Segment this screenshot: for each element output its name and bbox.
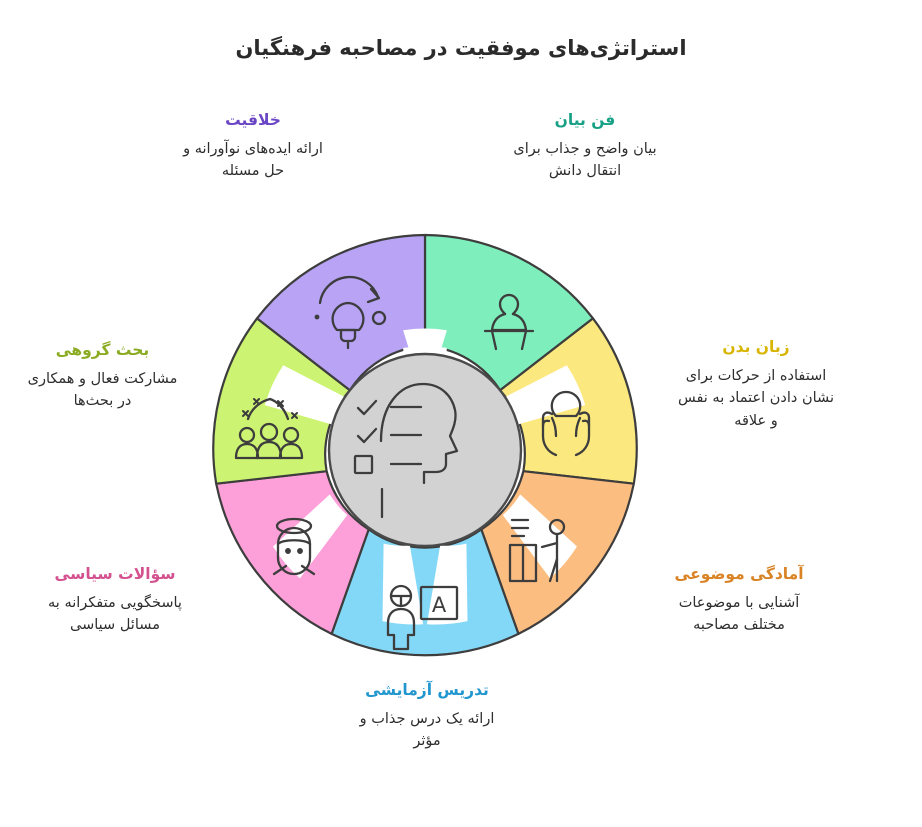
callout-group-desc: مشارکت فعال و همکاریدر بحث‌ها [5,368,200,413]
callout-expression-desc: بیان واضح و جذاب برایانتقال دانش [470,138,700,183]
callout-political-desc: پاسخگویی متفکرانه بهمسائل سیاسی [15,592,215,637]
callout-bodylang-title: زبان بدن [650,337,862,358]
callout-bodylang[interactable]: زبان بدن استفاده از حرکات براینشان دادن … [650,337,862,432]
callout-topic-desc: آشنایی با موضوعاتمختلف مصاحبه [634,592,844,637]
callout-topic-title: آمادگی موضوعی [634,564,844,585]
callout-group[interactable]: بحث گروهی مشارکت فعال و همکاریدر بحث‌ها [5,340,200,413]
callout-creativity[interactable]: خلاقیت ارائه ایده‌های نوآورانه وحل مسئله [138,110,368,183]
callout-topic[interactable]: آمادگی موضوعی آشنایی با موضوعاتمختلف مصا… [634,564,844,637]
callout-political-title: سؤالات سیاسی [15,564,215,585]
callout-demo-title: تدریس آزمایشی [312,680,542,701]
callout-political[interactable]: سؤالات سیاسی پاسخگویی متفکرانه بهمسائل س… [15,564,215,637]
hub-circle[interactable] [329,354,521,546]
callout-demo-desc: ارائه یک درس جذاب ومؤثر [312,708,542,753]
notch-gap-top [403,329,447,356]
callout-expression[interactable]: فن بیان بیان واضح و جذاب برایانتقال دانش [470,110,700,183]
page-title: استراتژی‌های موفقیت در مصاحبه فرهنگیان [0,36,922,60]
svg-text:A: A [432,593,447,617]
strategy-wheel: A [208,233,642,667]
callout-demo[interactable]: تدریس آزمایشی ارائه یک درس جذاب ومؤثر [312,680,542,753]
callout-creativity-desc: ارائه ایده‌های نوآورانه وحل مسئله [138,138,368,183]
callout-expression-title: فن بیان [470,110,700,131]
callout-creativity-title: خلاقیت [138,110,368,131]
callout-group-title: بحث گروهی [5,340,200,361]
callout-bodylang-desc: استفاده از حرکات براینشان دادن اعتماد به… [650,365,862,432]
